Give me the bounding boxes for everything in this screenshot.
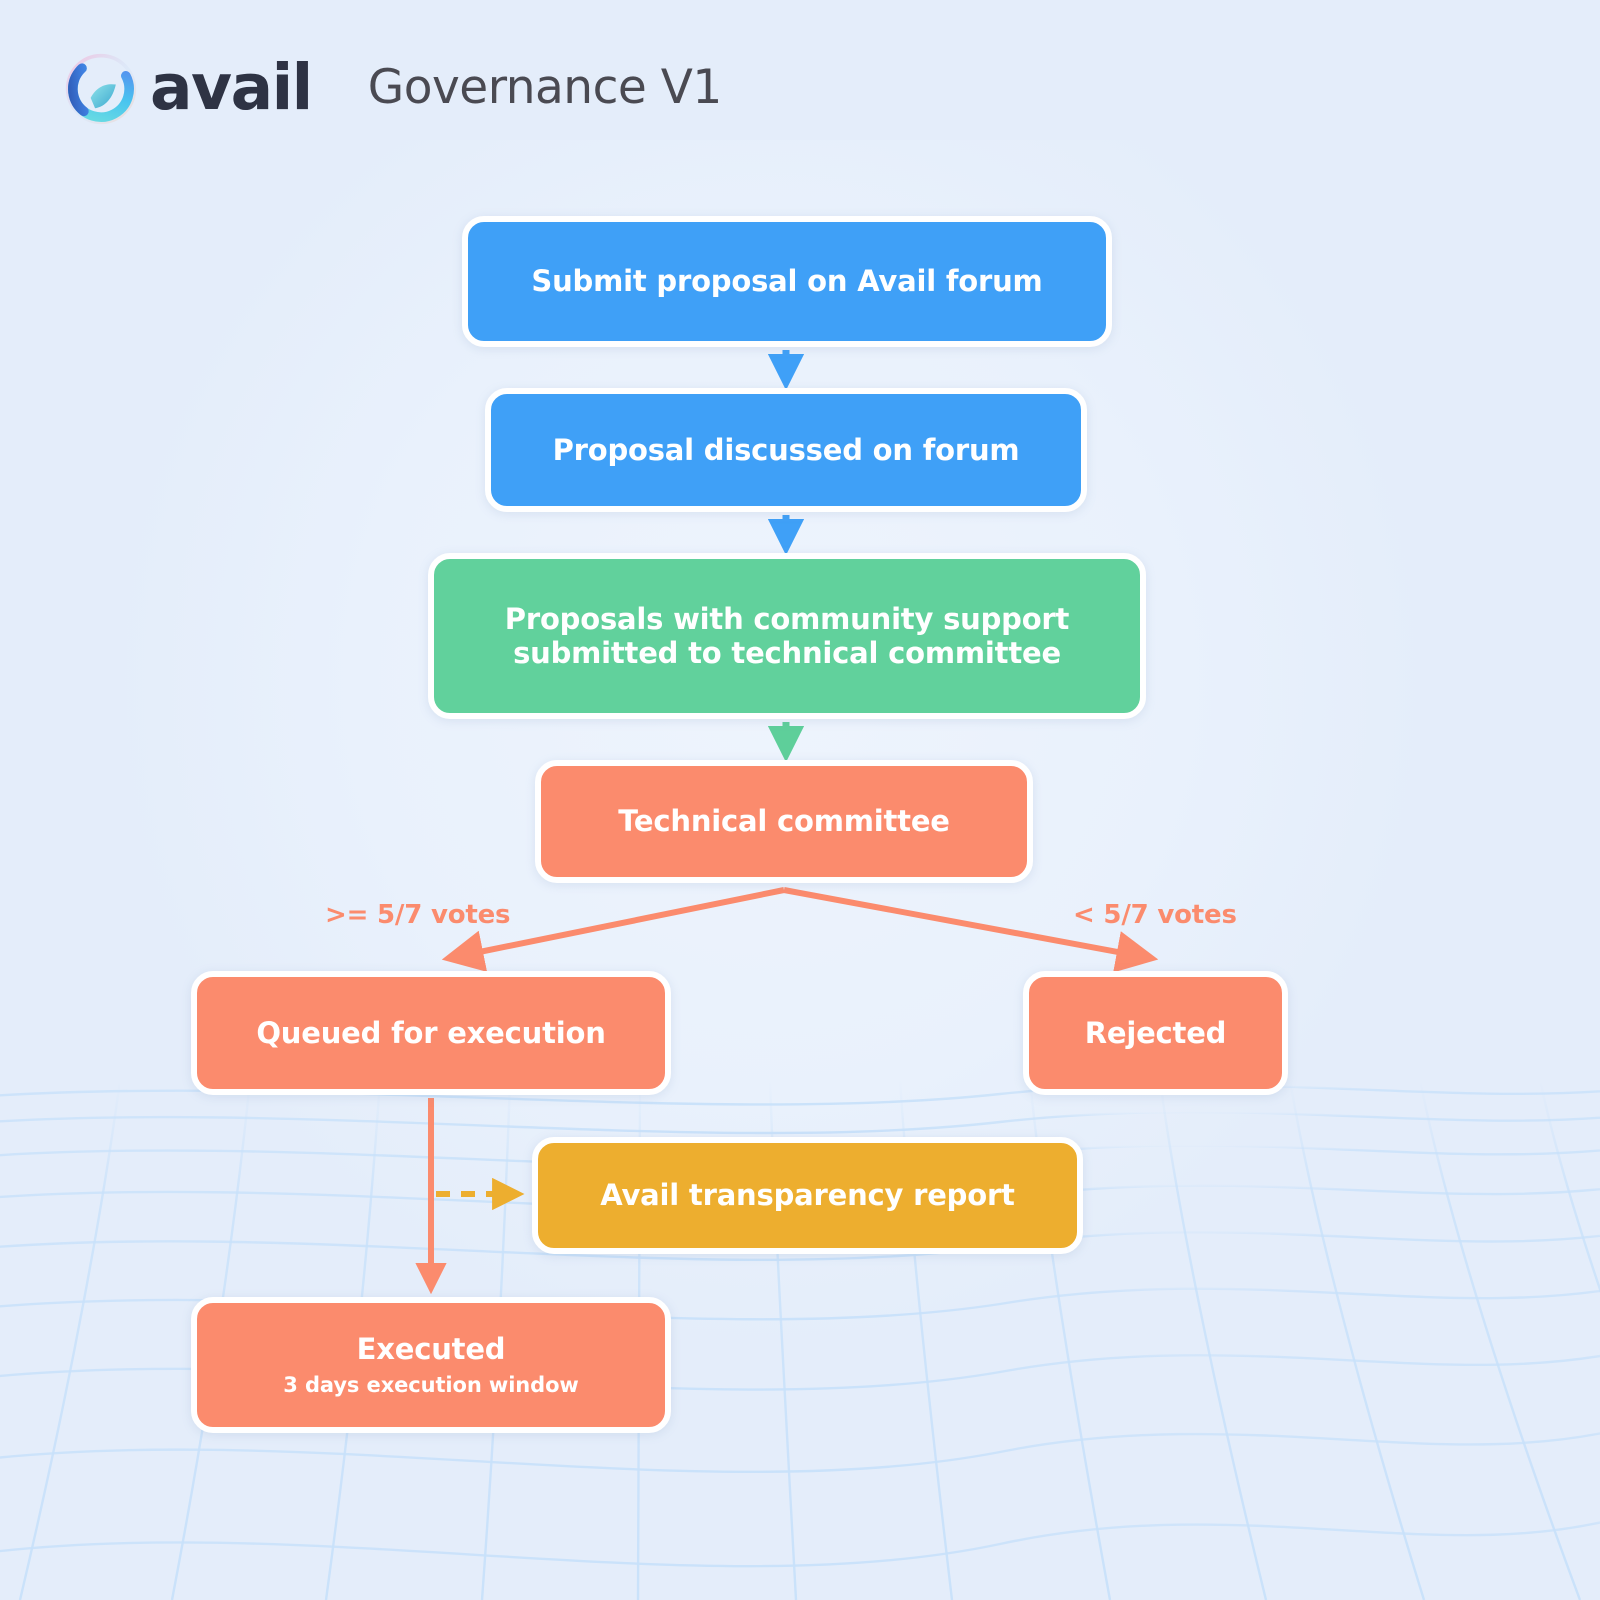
diagram-canvas: avail Governance V1 bbox=[0, 0, 1600, 1600]
flow-node-label: Rejected bbox=[1067, 1016, 1245, 1050]
flow-node-label-line2: submitted to technical committee bbox=[495, 636, 1079, 670]
flow-node-label: Avail transparency report bbox=[582, 1178, 1032, 1212]
flow-node-label: Queued for execution bbox=[238, 1016, 623, 1050]
flow-node-queued-for-execution[interactable]: Queued for execution bbox=[191, 971, 671, 1095]
flow-node-label: Submit proposal on Avail forum bbox=[513, 264, 1060, 298]
edge-label-fail-votes: < 5/7 votes bbox=[1073, 900, 1237, 930]
avail-logo-icon bbox=[64, 52, 138, 126]
edge-label-pass-votes: >= 5/7 votes bbox=[325, 900, 510, 930]
avail-wordmark: avail bbox=[150, 56, 312, 123]
flow-node-avail-transparency-report[interactable]: Avail transparency report bbox=[532, 1137, 1083, 1254]
flow-node-label: Executed bbox=[339, 1332, 524, 1366]
flow-node-submit-proposal[interactable]: Submit proposal on Avail forum bbox=[462, 216, 1112, 347]
flow-node-sublabel: 3 days execution window bbox=[283, 1373, 578, 1398]
flow-node-proposal-discussed[interactable]: Proposal discussed on forum bbox=[485, 388, 1087, 512]
header: avail Governance V1 bbox=[64, 52, 722, 126]
flow-node-label-line1: Proposals with community support bbox=[487, 602, 1087, 636]
flow-node-label: Proposal discussed on forum bbox=[535, 433, 1038, 467]
flow-node-label: Technical committee bbox=[600, 804, 968, 838]
flow-node-executed[interactable]: Executed 3 days execution window bbox=[191, 1297, 671, 1433]
page-title: Governance V1 bbox=[368, 64, 722, 114]
flow-node-technical-committee[interactable]: Technical committee bbox=[535, 760, 1033, 883]
flow-node-community-support-submission[interactable]: Proposals with community support submitt… bbox=[428, 553, 1146, 719]
flow-node-rejected[interactable]: Rejected bbox=[1023, 971, 1288, 1095]
